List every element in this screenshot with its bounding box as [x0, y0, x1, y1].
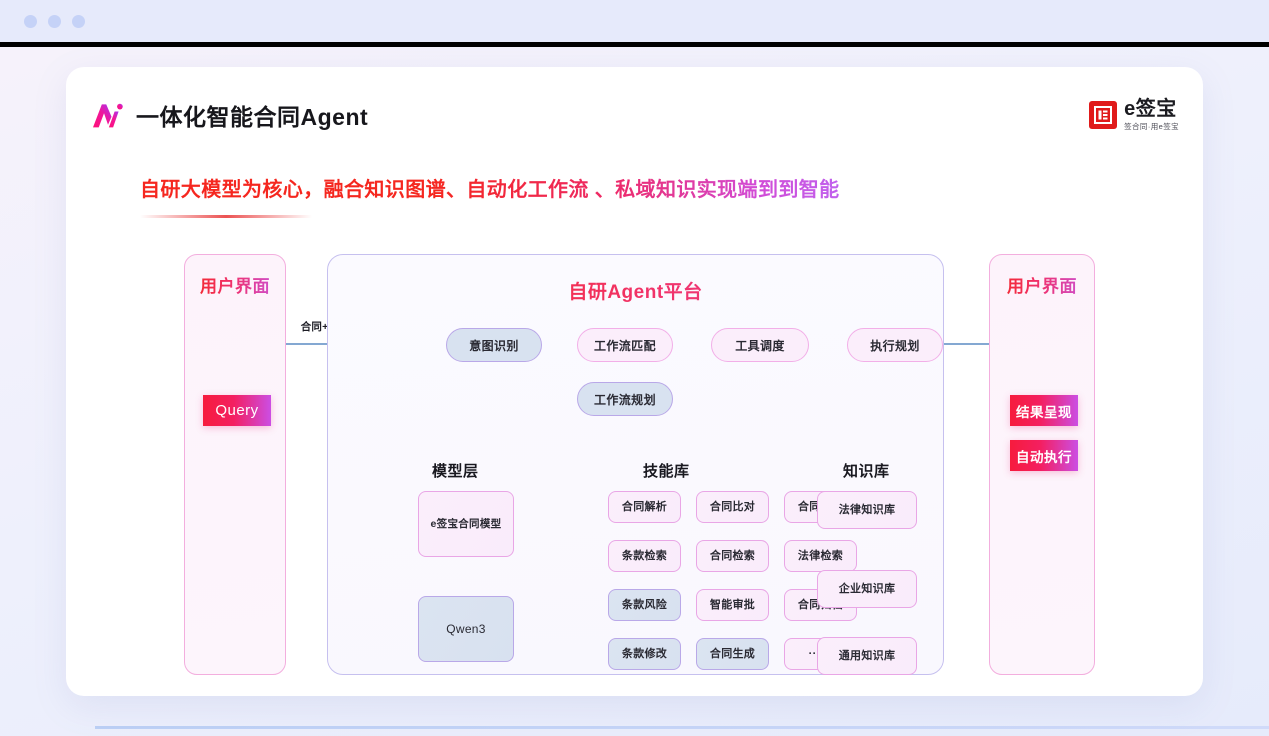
window-bottom-edge — [95, 726, 1269, 729]
flow-node-workflow-matching[interactable]: 工作流匹配 — [577, 328, 673, 362]
knowledge-tile[interactable]: 通用知识库 — [817, 637, 917, 675]
window-controls — [24, 15, 85, 28]
flow-node-tool-scheduling[interactable]: 工具调度 — [711, 328, 809, 362]
skill-tile[interactable]: 合同比对 — [696, 491, 769, 523]
section-title-knowledge-base: 知识库 — [843, 460, 890, 481]
flow-node-workflow-planning[interactable]: 工作流规划 — [577, 382, 673, 416]
skill-tile[interactable]: 条款检索 — [608, 540, 681, 572]
skill-tile[interactable]: 智能审批 — [696, 589, 769, 621]
window-maximize-dot[interactable] — [72, 15, 85, 28]
skill-tile[interactable]: 条款修改 — [608, 638, 681, 670]
right-panel-title: 用户界面 — [990, 272, 1094, 297]
window-close-dot[interactable] — [24, 15, 37, 28]
knowledge-tile[interactable]: 企业知识库 — [817, 570, 917, 608]
auto-execution-button[interactable]: 自动执行 — [1010, 440, 1078, 471]
model-tile-esign-contract-model[interactable]: e签宝合同模型 — [418, 491, 514, 557]
section-title-model-layer: 模型层 — [432, 460, 479, 481]
skill-tile[interactable]: 条款风险 — [608, 589, 681, 621]
architecture-diagram: 合同+自然语言 用户界面 Query 用户界面 结果呈现 自动执行 自研Agen… — [66, 67, 1203, 696]
window-minimize-dot[interactable] — [48, 15, 61, 28]
skill-tile[interactable]: 合同生成 — [696, 638, 769, 670]
skill-tile[interactable]: 法律检索 — [784, 540, 857, 572]
slide-card: 一体化智能合同Agent e签宝 签合同·用e签宝 自研大模型为核心，融合知识图… — [66, 67, 1203, 696]
query-button[interactable]: Query — [203, 395, 271, 426]
skill-tile[interactable]: 合同检索 — [696, 540, 769, 572]
left-user-interface-panel: 用户界面 Query — [184, 254, 286, 675]
right-user-interface-panel: 用户界面 结果呈现 自动执行 — [989, 254, 1095, 675]
result-presentation-button[interactable]: 结果呈现 — [1010, 395, 1078, 426]
flow-node-intent-recognition[interactable]: 意图识别 — [446, 328, 542, 362]
skill-tile[interactable]: 合同解析 — [608, 491, 681, 523]
knowledge-tile[interactable]: 法律知识库 — [817, 491, 917, 529]
model-tile-qwen3[interactable]: Qwen3 — [418, 596, 514, 662]
agent-platform-container: 自研Agent平台 意图识别 工作流匹配 工具调度 执行规划 工作流规划 模型层… — [327, 254, 944, 675]
left-panel-title: 用户界面 — [185, 272, 285, 297]
platform-title: 自研Agent平台 — [328, 277, 943, 304]
section-title-skill-library: 技能库 — [643, 460, 690, 481]
flow-node-execution-planning[interactable]: 执行规划 — [847, 328, 943, 362]
browser-chrome-bar — [0, 0, 1269, 42]
